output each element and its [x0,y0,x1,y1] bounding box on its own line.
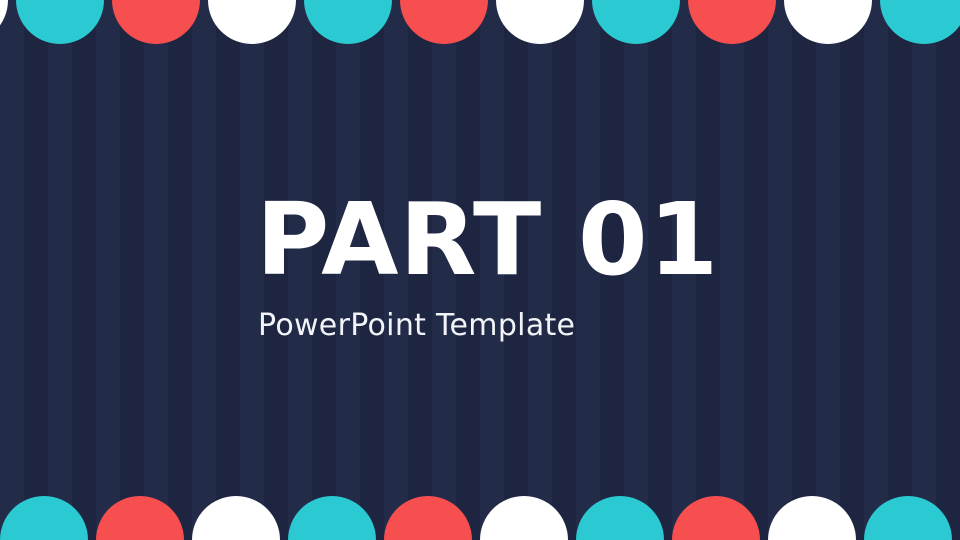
top-circle-band [0,0,960,48]
decorative-circle-white [0,0,8,44]
decorative-circle-teal [16,0,104,44]
decorative-circle-white [192,496,280,540]
decorative-circle-teal [304,0,392,44]
decorative-circle-red [96,496,184,540]
page-subtitle: PowerPoint Template [258,308,896,344]
decorative-circle-teal [880,0,960,44]
decorative-circle-teal [592,0,680,44]
decorative-circle-teal [288,496,376,540]
decorative-circle-teal [864,496,952,540]
slide-canvas: PART 01 PowerPoint Template [0,0,960,540]
decorative-circle-white [208,0,296,44]
decorative-circle-white [768,496,856,540]
page-title: PART 01 [256,188,896,292]
decorative-circle-red [112,0,200,44]
decorative-circle-red [672,496,760,540]
decorative-circle-red [400,0,488,44]
bottom-circle-band [0,492,960,540]
decorative-circle-teal [576,496,664,540]
decorative-circle-white [496,0,584,44]
decorative-circle-red [688,0,776,44]
title-text-block: PART 01 PowerPoint Template [256,188,896,344]
decorative-circle-teal [0,496,88,540]
decorative-circle-red [384,496,472,540]
decorative-circle-white [784,0,872,44]
decorative-circle-white [480,496,568,540]
